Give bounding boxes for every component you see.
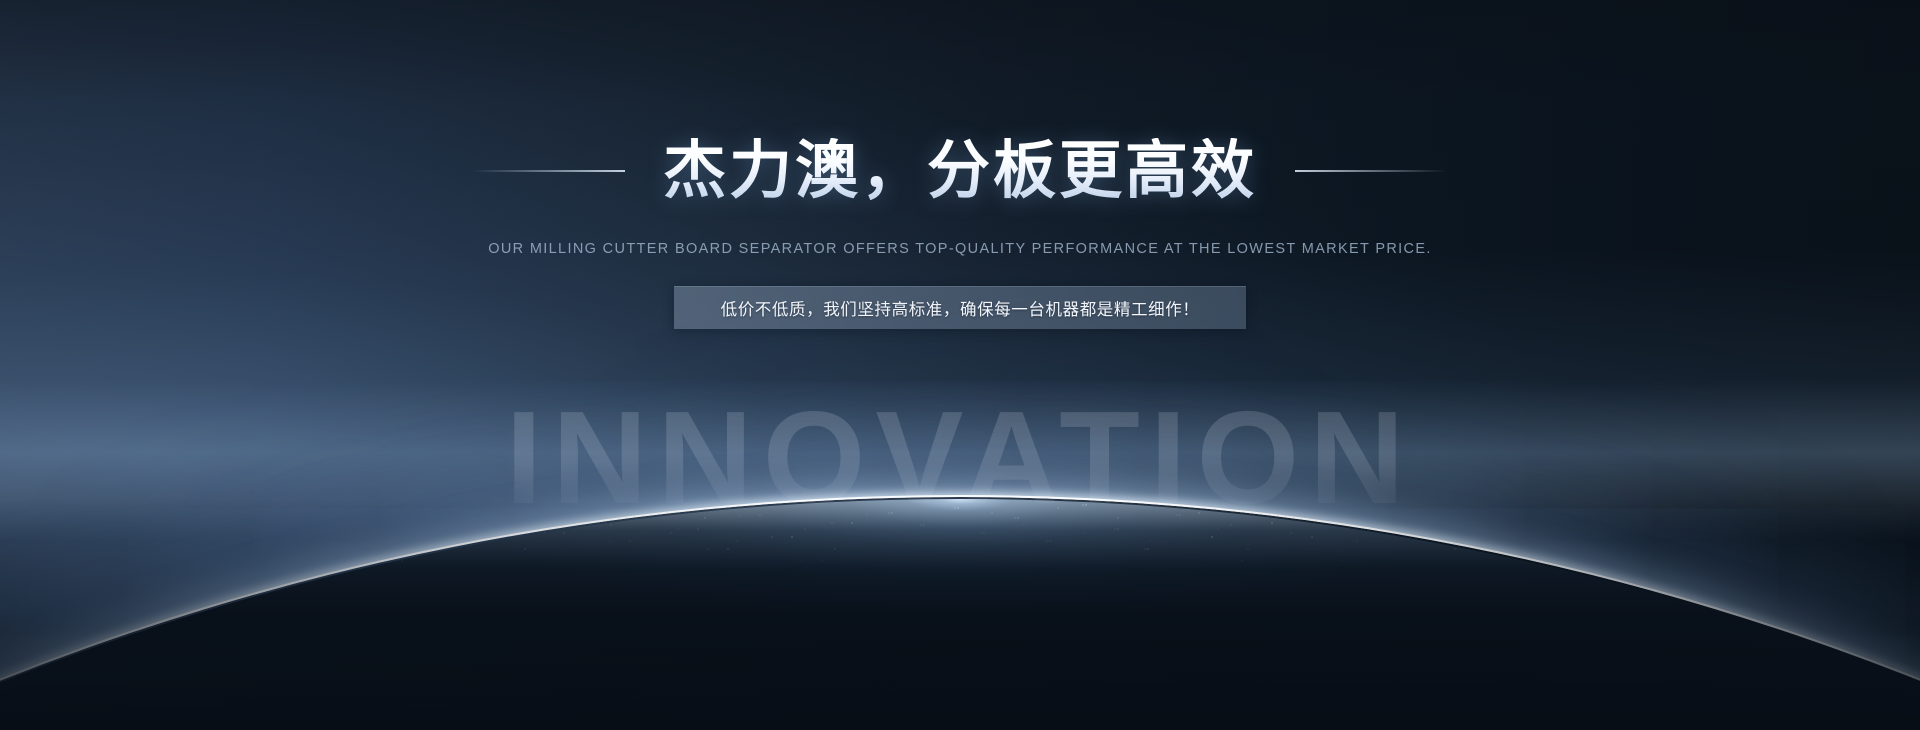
title-decor-rule-right (1295, 170, 1447, 172)
hero-banner: INNOVATION 杰力澳，分板更高效 OUR MILLING CUTTER … (0, 0, 1920, 730)
title-row: 杰力澳，分板更高效 (0, 138, 1920, 205)
hero-content: 杰力澳，分板更高效 OUR MILLING CUTTER BOARD SEPAR… (0, 0, 1920, 730)
hero-subtitle-english: OUR MILLING CUTTER BOARD SEPARATOR OFFER… (488, 241, 1432, 257)
title-decor-rule-left (473, 170, 625, 172)
page-title: 杰力澳，分板更高效 (663, 138, 1257, 205)
tagline-text: 低价不低质，我们坚持高标准，确保每一台机器都是精工细作！ (721, 296, 1200, 320)
tagline-bar: 低价不低质，我们坚持高标准，确保每一台机器都是精工细作！ (674, 286, 1246, 329)
